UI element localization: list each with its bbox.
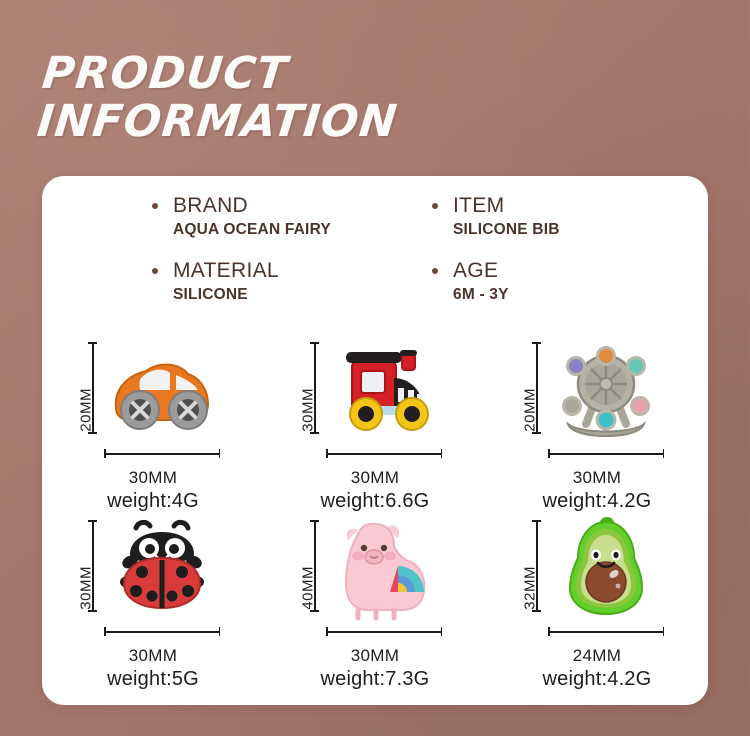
- height-dimension-line: 40MM: [310, 520, 319, 612]
- width-dimension-line: [326, 449, 442, 458]
- product-info-card: BRAND AQUA OCEAN FAIRY ITEM SILICONE BIB…: [42, 176, 708, 705]
- bullet-icon: [432, 203, 438, 209]
- info-value: 6M - 3Y: [453, 286, 668, 304]
- height-dimension-label: 20MM: [522, 388, 539, 432]
- info-label-row: AGE: [432, 259, 668, 283]
- info-value: SILICONE BIB: [453, 221, 668, 239]
- info-item-material: MATERIAL SILICONE: [152, 259, 410, 304]
- height-dimension-label: 20MM: [78, 388, 95, 432]
- weight-label: weight:7.3G: [264, 668, 486, 691]
- page-title: PRODUCT INFORMATION: [35, 50, 405, 146]
- weight-label: weight:4.2G: [486, 490, 708, 513]
- avocado-icon: [550, 516, 662, 620]
- info-row: MATERIAL SILICONE AGE 6M - 3Y: [152, 259, 668, 304]
- product-cell-toy-train: 30MM: [264, 336, 486, 514]
- weight-label: weight:5G: [42, 668, 264, 691]
- height-dimension-line: 32MM: [532, 520, 541, 612]
- alpaca-icon: [328, 516, 440, 620]
- width-dimension-line: [104, 449, 220, 458]
- product-row: 20MM: [42, 336, 708, 514]
- info-item-age: AGE 6M - 3Y: [410, 259, 668, 304]
- width-dimension-label: 30MM: [42, 468, 264, 488]
- product-row: 30MM: [42, 514, 708, 692]
- width-dimension-label: 30MM: [264, 646, 486, 666]
- info-label-row: BRAND: [152, 194, 410, 218]
- weight-label: weight:4.2G: [486, 668, 708, 691]
- width-dimension-line: [104, 627, 220, 636]
- info-item-item: ITEM SILICONE BIB: [410, 194, 668, 239]
- info-label: MATERIAL: [173, 259, 279, 283]
- height-dimension-line: 20MM: [532, 342, 541, 434]
- height-dimension-label: 30MM: [78, 566, 95, 610]
- height-dimension-line: 20MM: [88, 342, 97, 434]
- weight-label: weight:4G: [42, 490, 264, 513]
- ladybug-icon: [106, 516, 218, 620]
- product-cell-toy-car: 20MM: [42, 336, 264, 514]
- width-dimension-line: [548, 449, 664, 458]
- bullet-icon: [152, 268, 158, 274]
- height-dimension-label: 32MM: [522, 566, 539, 610]
- height-dimension-label: 40MM: [300, 566, 317, 610]
- ferris-wheel-icon: [550, 338, 662, 442]
- height-dimension-line: 30MM: [88, 520, 97, 612]
- info-value: SILICONE: [173, 286, 410, 304]
- toy-train-icon: [328, 338, 440, 442]
- bullet-icon: [152, 203, 158, 209]
- product-cell-ferris-wheel: 20MM: [486, 336, 708, 514]
- info-label: AGE: [453, 259, 498, 283]
- product-cell-ladybug: 30MM: [42, 514, 264, 692]
- info-row: BRAND AQUA OCEAN FAIRY ITEM SILICONE BIB: [152, 194, 668, 239]
- width-dimension-line: [326, 627, 442, 636]
- toy-car-icon: [106, 338, 218, 442]
- width-dimension-label: 30MM: [264, 468, 486, 488]
- info-section: BRAND AQUA OCEAN FAIRY ITEM SILICONE BIB…: [42, 194, 708, 324]
- info-item-brand: BRAND AQUA OCEAN FAIRY: [152, 194, 410, 239]
- info-label-row: ITEM: [432, 194, 668, 218]
- product-grid: 20MM: [42, 336, 708, 692]
- width-dimension-label: 24MM: [486, 646, 708, 666]
- width-dimension-line: [548, 627, 664, 636]
- height-dimension-label: 30MM: [300, 388, 317, 432]
- height-dimension-line: 30MM: [310, 342, 319, 434]
- info-label-row: MATERIAL: [152, 259, 410, 283]
- bullet-icon: [432, 268, 438, 274]
- width-dimension-label: 30MM: [486, 468, 708, 488]
- weight-label: weight:6.6G: [264, 490, 486, 513]
- product-cell-alpaca: 40MM: [264, 514, 486, 692]
- info-label: BRAND: [173, 194, 248, 218]
- product-cell-avocado: 32MM: [486, 514, 708, 692]
- width-dimension-label: 30MM: [42, 646, 264, 666]
- info-label: ITEM: [453, 194, 504, 218]
- info-value: AQUA OCEAN FAIRY: [173, 221, 410, 239]
